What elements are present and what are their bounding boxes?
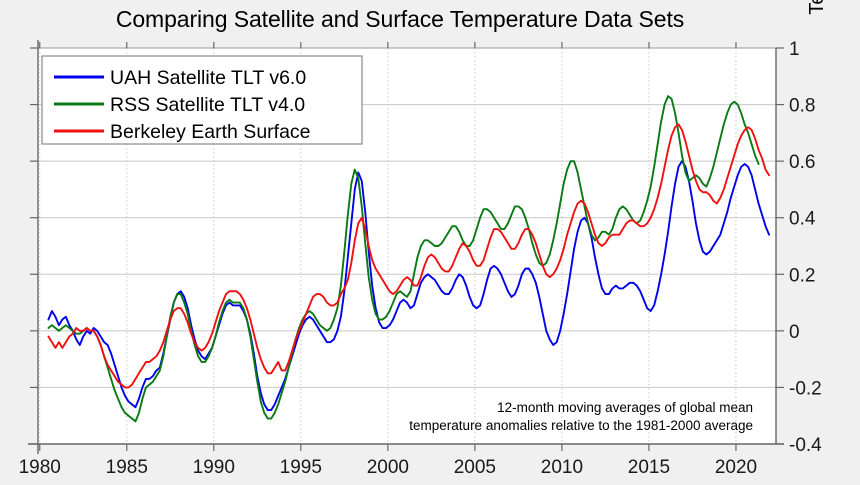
x-tick-label: 2000 <box>367 457 409 478</box>
annotation-line-1: temperature anomalies relative to the 19… <box>409 418 753 433</box>
y-tick-label: 0.8 <box>789 96 815 117</box>
y-tick-label: 0 <box>789 322 800 343</box>
y-tick-label: -0.4 <box>789 435 822 456</box>
legend-label-2: Berkeley Earth Surface <box>110 121 311 143</box>
x-axis-tick-labels: 198019851990199520002005201020152020 <box>19 457 758 478</box>
annotation-line-0: 12-month moving averages of global mean <box>497 400 753 415</box>
plot-canvas: 198019851990199520002005201020152020 10.… <box>0 0 860 485</box>
x-tick-label: 1995 <box>280 457 322 478</box>
x-tick-label: 1980 <box>19 457 61 478</box>
chart-legend[interactable]: UAH Satellite TLT v6.0RSS Satellite TLT … <box>42 56 362 144</box>
x-tick-label: 2020 <box>715 457 757 478</box>
x-tick-label: 1985 <box>106 457 148 478</box>
legend-label-1: RSS Satellite TLT v4.0 <box>110 94 305 116</box>
legend-label-0: UAH Satellite TLT v6.0 <box>110 67 306 89</box>
y-axis-title: Temperature Anomaly (° C) <box>806 0 828 94</box>
x-tick-label: 2005 <box>454 457 496 478</box>
y-tick-label: 0.2 <box>789 265 815 286</box>
y-tick-label: -0.2 <box>789 378 822 399</box>
x-tick-label: 2015 <box>628 457 670 478</box>
x-tick-label: 2010 <box>541 457 583 478</box>
y-tick-label: 0.4 <box>789 209 816 230</box>
chart-figure: Comparing Satellite and Surface Temperat… <box>0 0 860 485</box>
y-axis-tick-labels: 10.80.60.40.20-0.2-0.4 <box>789 39 822 456</box>
y-tick-label: 0.6 <box>789 152 815 173</box>
y-tick-label: 1 <box>789 39 800 60</box>
x-tick-label: 1990 <box>193 457 235 478</box>
